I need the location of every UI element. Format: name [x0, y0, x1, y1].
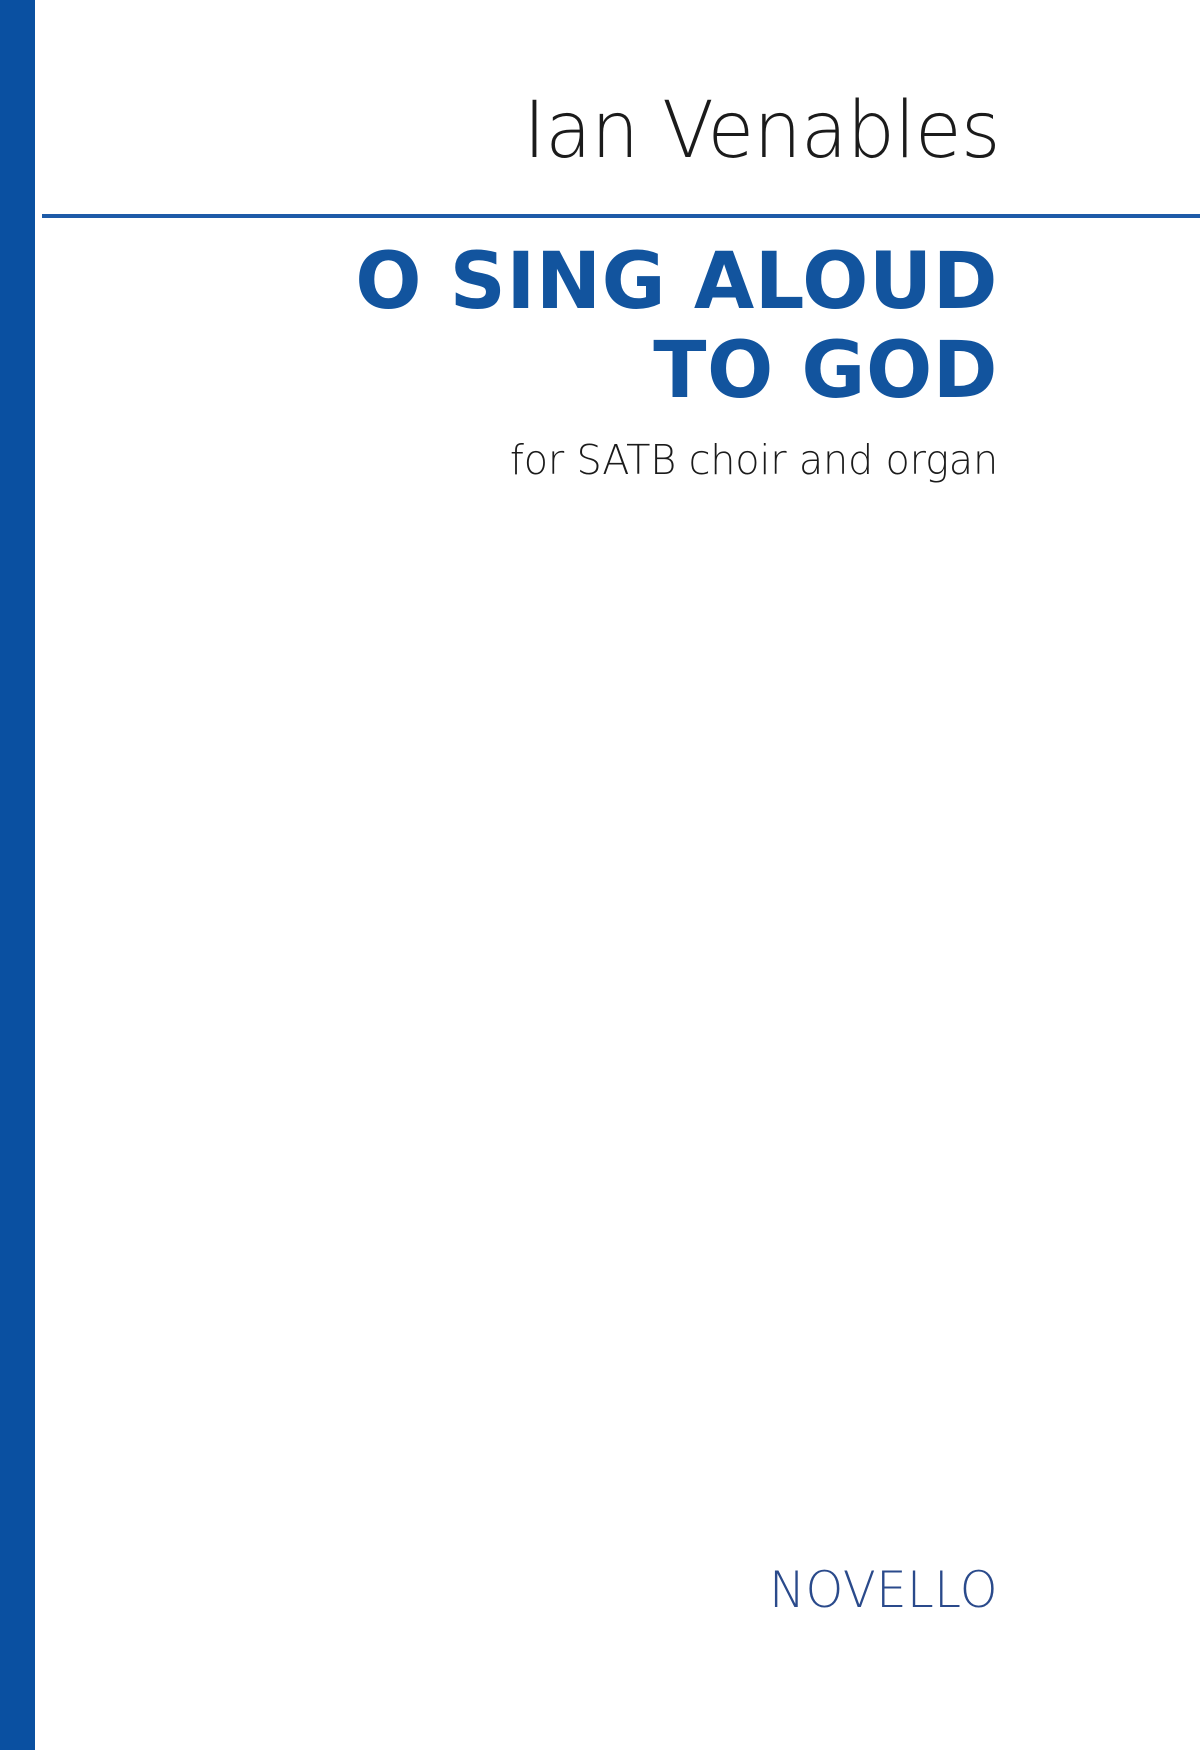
title-line-1: O SING ALOUD — [35, 238, 998, 327]
page-title: O SING ALOUD TO GOD — [35, 238, 998, 416]
publisher-logo: NOVELLO — [74, 1565, 998, 1615]
cover-content-column: Ian Venables O SING ALOUD TO GOD for SAT… — [35, 0, 1200, 1750]
scoring-subtitle: for SATB choir and organ — [64, 440, 998, 481]
header-divider-rule — [42, 214, 1200, 218]
score-cover-page: Ian Venables O SING ALOUD TO GOD for SAT… — [0, 0, 1200, 1750]
title-line-2: TO GOD — [35, 327, 998, 416]
composer-name: Ian Venables — [64, 92, 1000, 170]
left-spine-accent-bar — [0, 0, 35, 1750]
